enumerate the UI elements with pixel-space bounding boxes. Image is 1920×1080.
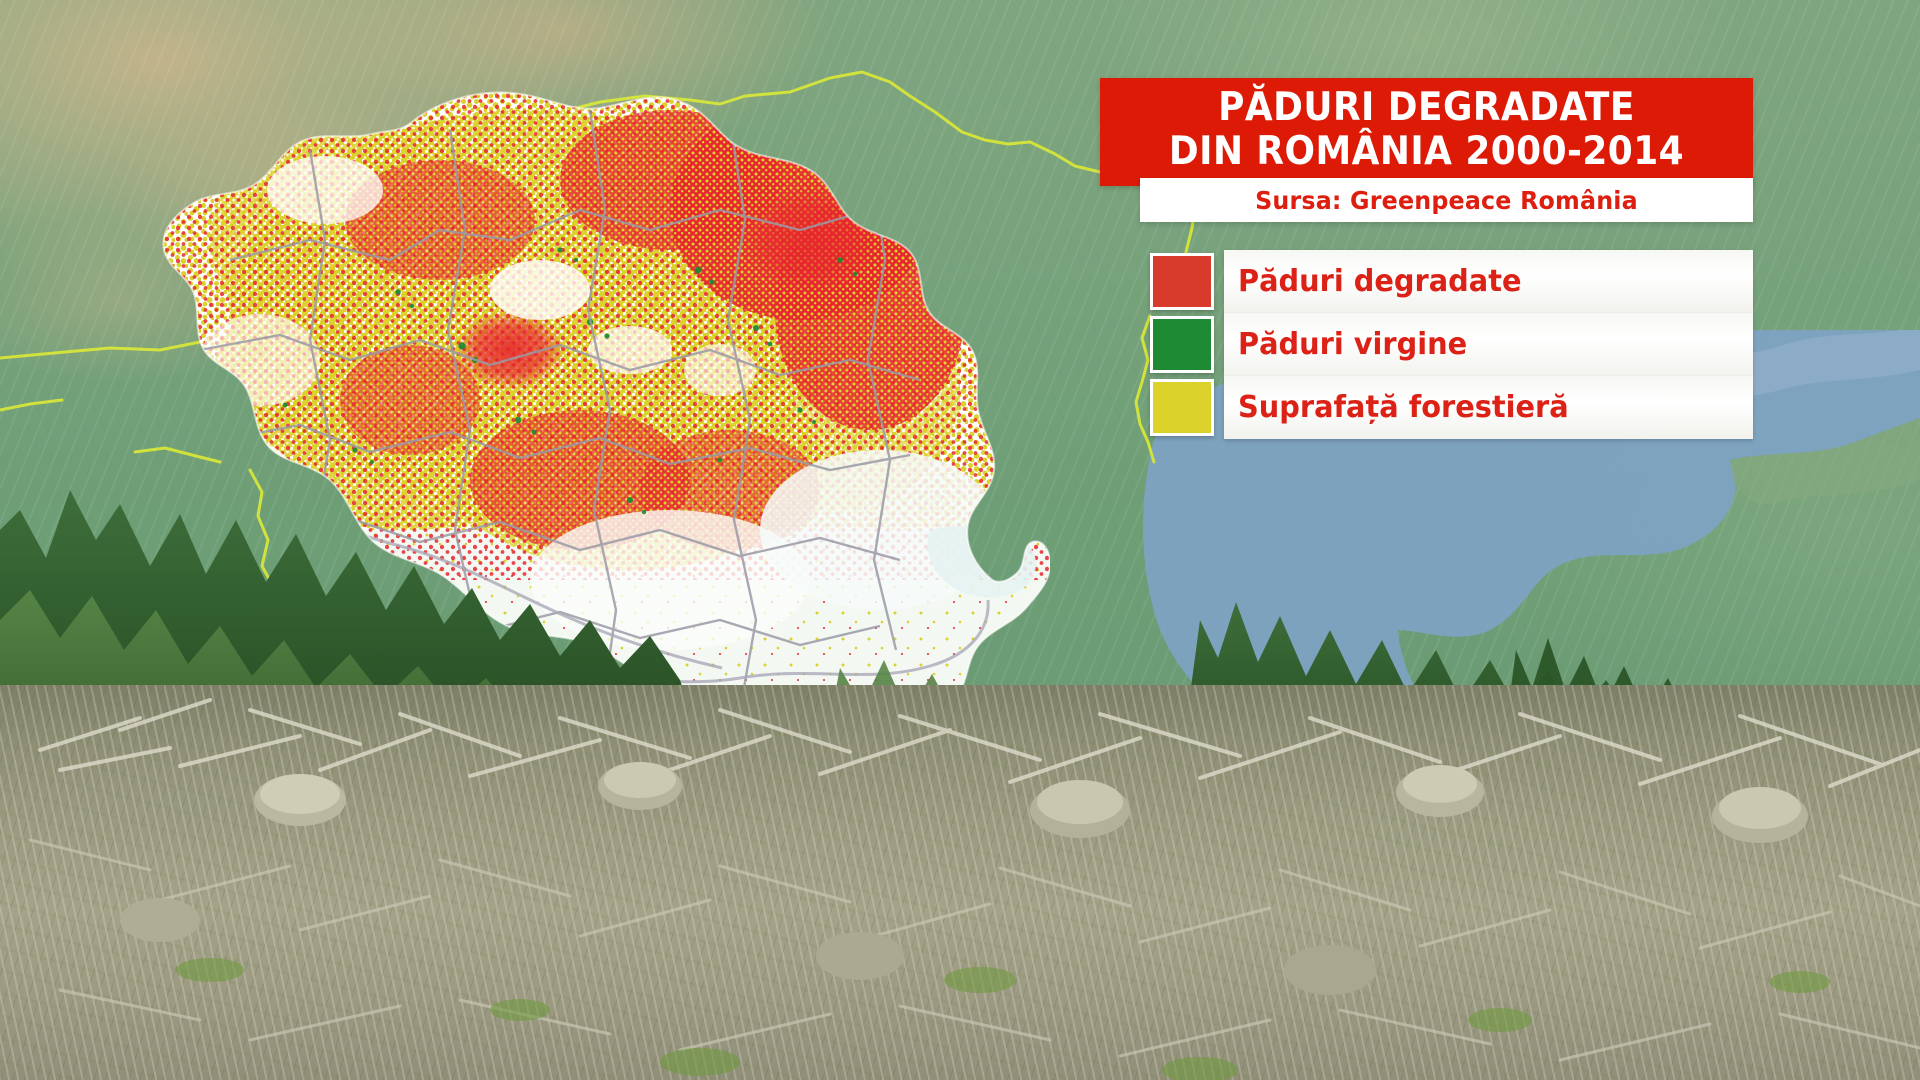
- legend-swatch-degraded-forest: [1150, 253, 1214, 310]
- infographic-canvas: PĂDURI DEGRADATE DIN ROMÂNIA 2000-2014 S…: [0, 0, 1920, 1080]
- legend-label-virgin-forest: Păduri virgine: [1238, 313, 1467, 376]
- title-line-2: DIN ROMÂNIA 2000-2014: [1143, 130, 1711, 174]
- source-bar: Sursa: Greenpeace România: [1140, 178, 1753, 222]
- legend-item-virgin-forest[interactable]: Păduri virgine: [1150, 313, 1753, 376]
- legend-item-degraded-forest[interactable]: Păduri degradate: [1150, 250, 1753, 313]
- legend-item-forest-area[interactable]: Suprafață forestieră: [1150, 376, 1753, 439]
- tree-stumps-and-branches: [0, 670, 1920, 1080]
- legend-swatch-virgin-forest: [1150, 316, 1214, 373]
- title-line-1: PĂDURI DEGRADATE: [1143, 86, 1711, 130]
- legend-swatch-forest-area: [1150, 379, 1214, 436]
- legend-label-degraded-forest: Păduri degradate: [1238, 250, 1522, 313]
- deforestation-photo: [0, 470, 1920, 1080]
- stump-group: [120, 762, 1808, 995]
- title-banner: PĂDURI DEGRADATE DIN ROMÂNIA 2000-2014: [1100, 78, 1753, 186]
- source-text: Sursa: Greenpeace România: [1255, 186, 1638, 215]
- legend-label-forest-area: Suprafață forestieră: [1238, 376, 1569, 439]
- legend: Păduri degradate Păduri virgine Suprafaț…: [1150, 250, 1753, 439]
